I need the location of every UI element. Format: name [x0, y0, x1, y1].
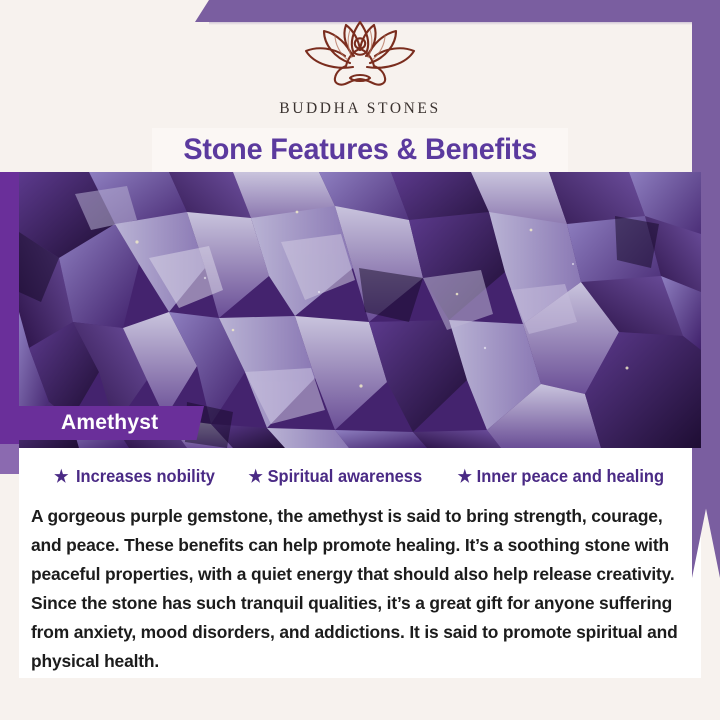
- benefit-item: ★ Inner peace and healing: [458, 466, 664, 487]
- benefit-label: Increases nobility: [76, 466, 215, 487]
- benefit-label: Inner peace and healing: [477, 466, 664, 487]
- page-title-plate: Stone Features & Benefits: [152, 128, 568, 172]
- star-icon: ★: [249, 468, 263, 485]
- star-icon: ★: [54, 468, 68, 485]
- left-accent-strip: [0, 172, 19, 444]
- brand-name: BUDDHA STONES: [279, 100, 440, 118]
- header: BUDDHA STONES Stone Features & Benefits: [0, 0, 720, 172]
- page-title: Stone Features & Benefits: [183, 133, 537, 167]
- benefit-item: ★ Increases nobility: [54, 466, 215, 487]
- stone-description: A gorgeous purple gemstone, the amethyst…: [31, 502, 691, 676]
- lotus-meditation-icon: [290, 18, 430, 94]
- stone-name: Amethyst: [61, 411, 158, 435]
- stone-name-banner: Amethyst: [19, 406, 204, 440]
- infographic-page: BUDDHA STONES Stone Features & Benefits: [0, 0, 720, 720]
- star-icon: ★: [458, 468, 472, 485]
- benefit-item: ★ Spiritual awareness: [249, 466, 423, 487]
- brand-logo: BUDDHA STONES: [0, 18, 720, 118]
- bottom-margin: [0, 678, 720, 720]
- benefits-row: ★ Increases nobility ★ Spiritual awarene…: [0, 466, 720, 487]
- benefit-label: Spiritual awareness: [268, 466, 423, 487]
